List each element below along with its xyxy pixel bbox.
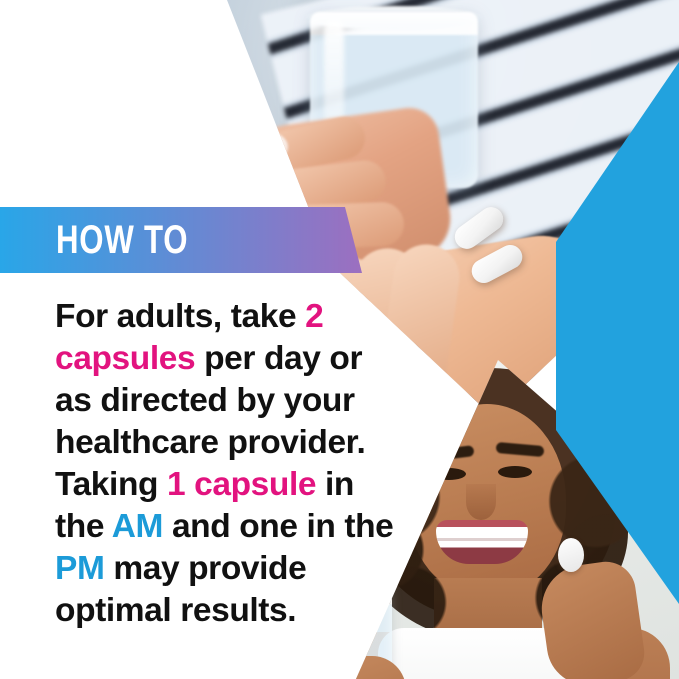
how-to-banner: HOW TO	[0, 207, 362, 273]
fingernail-one	[248, 132, 288, 162]
text-highlight-1-capsule: 1 capsule	[167, 466, 316, 503]
infographic-canvas: HOW TO For adults, take 2 capsules per d…	[0, 0, 679, 679]
how-to-title: HOW TO	[56, 220, 188, 260]
instructions-text: For adults, take 2 capsules per day or a…	[55, 296, 407, 632]
text-highlight-pm: PM	[55, 550, 104, 587]
fingernail-two	[252, 172, 292, 202]
text-segment-plain: For adults, take	[55, 298, 305, 335]
text-segment-plain: and one in the	[163, 508, 393, 545]
text-highlight-am: AM	[112, 508, 163, 545]
held-capsule	[558, 538, 584, 572]
